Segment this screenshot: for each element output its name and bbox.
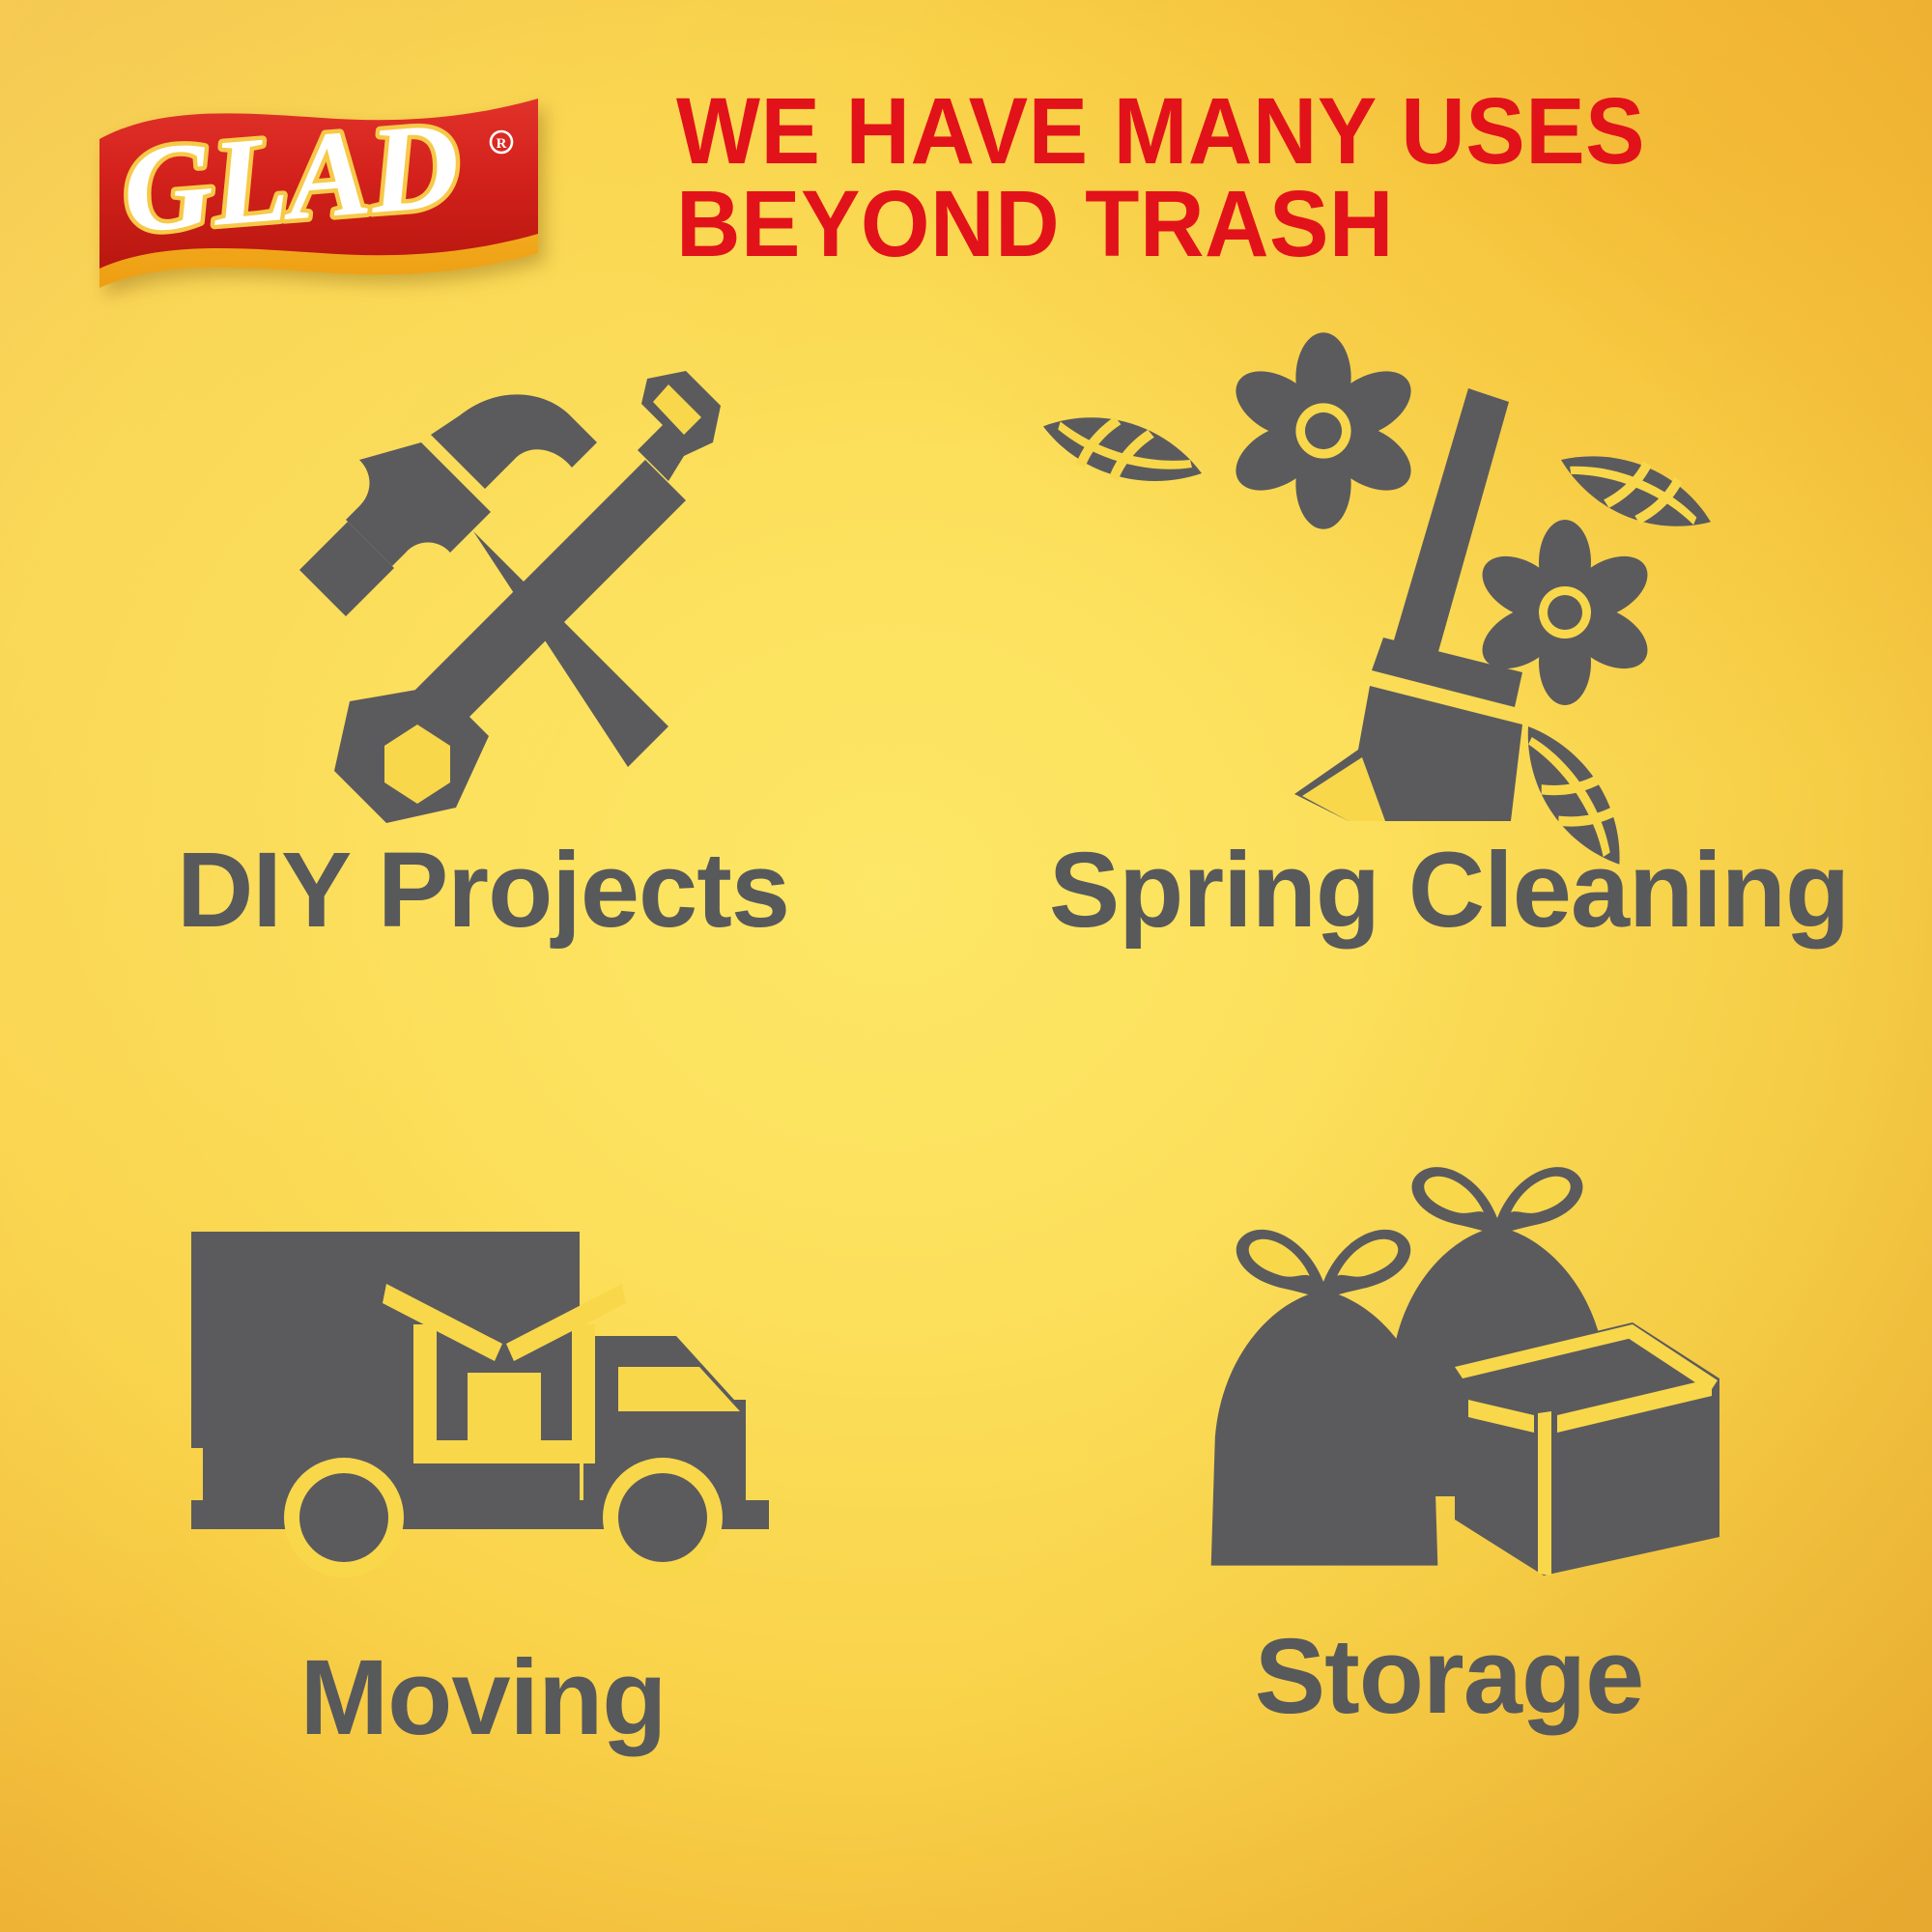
svg-text:R: R	[497, 136, 507, 152]
uses-grid: DIY Projects	[0, 367, 1932, 1932]
hammer-and-wrench-icon	[0, 367, 966, 821]
headline-line-2: BEYOND TRASH	[676, 178, 1759, 270]
broom-flowers-leaves-icon	[966, 367, 1932, 821]
use-label-moving: Moving	[300, 1636, 667, 1759]
trash-bag-front	[1211, 1230, 1438, 1566]
trash-bags-and-box-icon	[966, 1171, 1932, 1586]
headline: WE HAVE MANY USES BEYOND TRASH	[676, 85, 1816, 270]
headline-line-1: WE HAVE MANY USES	[676, 85, 1759, 178]
use-card-storage[interactable]: Storage	[966, 1150, 1932, 1932]
poster-header: GLAD GLAD R WE HAVE MANY USES BEYOND TRA…	[0, 0, 1932, 348]
moving-truck-icon	[0, 1196, 966, 1611]
use-label-spring-cleaning: Spring Cleaning	[1049, 829, 1849, 952]
poster-canvas: GLAD GLAD R WE HAVE MANY USES BEYOND TRA…	[0, 0, 1932, 1932]
use-card-spring-cleaning[interactable]: Spring Cleaning	[966, 367, 1932, 1150]
use-card-diy[interactable]: DIY Projects	[0, 367, 966, 1150]
use-card-moving[interactable]: Moving	[0, 1150, 966, 1932]
use-label-diy: DIY Projects	[177, 829, 789, 952]
cardboard-box	[1455, 1322, 1719, 1576]
glad-logo: GLAD GLAD R	[92, 89, 546, 297]
svg-text:GLAD: GLAD	[118, 96, 465, 259]
use-label-storage: Storage	[1255, 1615, 1644, 1738]
